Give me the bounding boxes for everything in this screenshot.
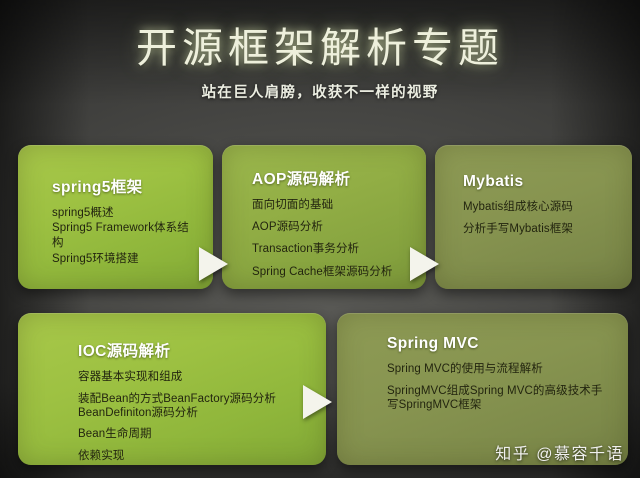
arrow-right-icon — [303, 385, 332, 419]
list-item: 装配Bean的方式BeanFactory源码分析BeanDefiniton源码分… — [78, 392, 308, 420]
card-spring5-title: spring5框架 — [52, 175, 195, 197]
page-subtitle: 站在巨人肩膀，收获不一样的视野 — [0, 81, 640, 102]
card-mybatis[interactable]: Mybatis Mybatis组成核心源码 分析手写Mybatis框架 — [435, 145, 632, 289]
list-item: 容器基本实现和组成 — [78, 370, 308, 385]
list-item: 面向切面的基础 — [252, 198, 408, 213]
list-item: Spring MVC的使用与流程解析 — [387, 362, 610, 377]
card-ioc-items: 容器基本实现和组成 装配Bean的方式BeanFactory源码分析BeanDe… — [78, 370, 308, 465]
card-aop-title: AOP源码解析 — [252, 167, 408, 189]
slide-canvas: 开源框架解析专题 站在巨人肩膀，收获不一样的视野 spring5框架 sprin… — [0, 0, 640, 478]
card-ioc-content: IOC源码解析 容器基本实现和组成 装配Bean的方式BeanFactory源码… — [18, 313, 326, 465]
list-item: 依赖实现 — [78, 449, 308, 464]
watermark: 知乎 @慕容千语 — [495, 440, 624, 464]
list-item: Bean生命周期 — [78, 427, 308, 442]
list-item: Mybatis组成核心源码 — [463, 200, 614, 215]
card-spring-mvc-content: Spring MVC Spring MVC的使用与流程解析 SpringMVC组… — [337, 313, 628, 424]
arrow-right-icon — [410, 247, 439, 281]
list-item: Spring5 Framework体系结构 — [52, 221, 195, 251]
card-spring5-content: spring5框架 spring5概述 Spring5 Framework体系结… — [18, 145, 213, 279]
card-ioc-title: IOC源码解析 — [78, 339, 308, 361]
list-item: SpringMVC组成Spring MVC的高级技术手写SpringMVC框架 — [387, 384, 610, 412]
card-spring5[interactable]: spring5框架 spring5概述 Spring5 Framework体系结… — [18, 145, 213, 289]
card-spring-mvc-title: Spring MVC — [387, 335, 610, 353]
card-mybatis-title: Mybatis — [463, 173, 614, 191]
list-item: AOP源码分析 — [252, 220, 408, 235]
page-title: 开源框架解析专题 — [0, 26, 640, 72]
list-item: Spring5环境搭建 — [52, 252, 195, 267]
list-item: spring5概述 — [52, 206, 195, 221]
card-mybatis-content: Mybatis Mybatis组成核心源码 分析手写Mybatis框架 — [435, 145, 632, 249]
list-item: Transaction事务分析 — [252, 242, 408, 257]
card-ioc[interactable]: IOC源码解析 容器基本实现和组成 装配Bean的方式BeanFactory源码… — [18, 313, 326, 465]
card-aop[interactable]: AOP源码解析 面向切面的基础 AOP源码分析 Transaction事务分析 … — [222, 145, 426, 289]
card-aop-items: 面向切面的基础 AOP源码分析 Transaction事务分析 Spring C… — [252, 198, 408, 280]
arrow-right-icon — [199, 247, 228, 281]
list-item: Spring Cache框架源码分析 — [252, 265, 408, 280]
list-item: 分析手写Mybatis框架 — [463, 222, 614, 237]
card-aop-content: AOP源码解析 面向切面的基础 AOP源码分析 Transaction事务分析 … — [222, 145, 426, 289]
card-spring-mvc-items: Spring MVC的使用与流程解析 SpringMVC组成Spring MVC… — [387, 362, 610, 412]
slide-header: 开源框架解析专题 站在巨人肩膀，收获不一样的视野 — [0, 0, 640, 102]
card-spring5-items: spring5概述 Spring5 Framework体系结构 Spring5环… — [52, 206, 195, 267]
card-mybatis-items: Mybatis组成核心源码 分析手写Mybatis框架 — [463, 200, 614, 237]
